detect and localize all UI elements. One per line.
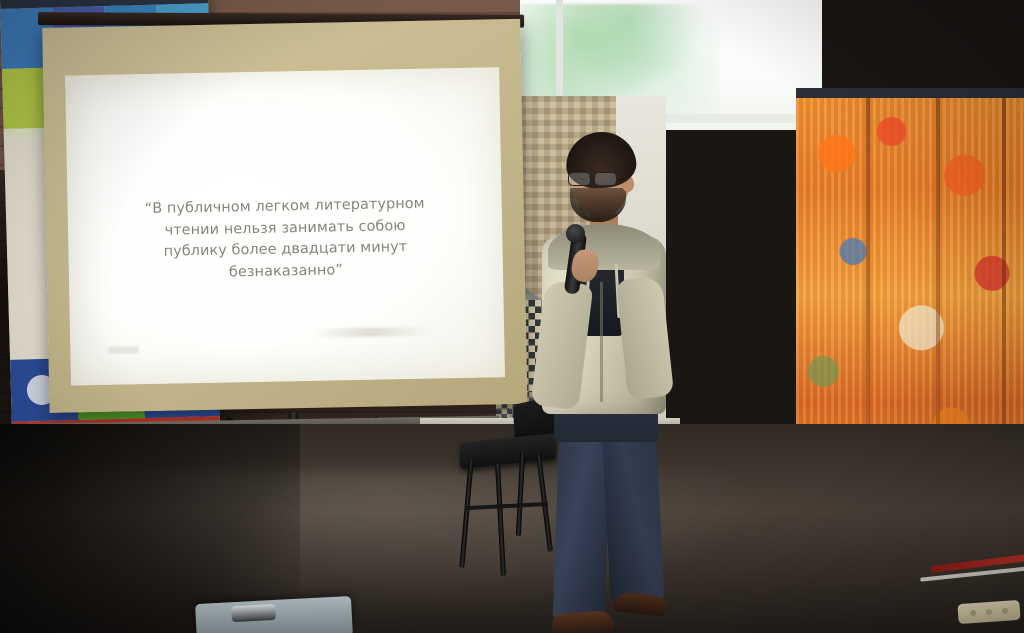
glasses-icon	[568, 172, 626, 184]
chair-leg	[516, 452, 525, 536]
projection-screen: “В публичном легком литературном чтении …	[42, 9, 528, 418]
power-socket	[986, 609, 992, 615]
presenter-shoe	[613, 591, 667, 616]
presenter-hood	[548, 224, 660, 270]
presenter-shoe	[551, 610, 614, 633]
chair-leg	[495, 464, 506, 576]
slide-faint-text	[108, 346, 138, 354]
projected-slide: “В публичном легком литературном чтении …	[65, 67, 505, 385]
hoodie-zipper	[600, 282, 603, 402]
slide-faint-text	[310, 327, 430, 338]
glasses-bridge	[589, 176, 595, 178]
photo-scene: Теплица – Москва	[0, 0, 1024, 633]
fabric-rail	[796, 88, 1024, 98]
chair-leg	[459, 460, 473, 568]
glasses-lens	[568, 172, 591, 186]
laptop-hinge	[231, 604, 276, 622]
presenter-leg	[601, 421, 664, 602]
screen-border: “В публичном легком литературном чтении …	[42, 19, 527, 413]
power-socket	[1002, 608, 1008, 614]
slide-quote-text: “В публичном легком литературном чтении …	[134, 193, 436, 285]
presenter	[528, 132, 678, 633]
power-socket	[970, 610, 976, 616]
glasses-lens	[594, 172, 617, 186]
